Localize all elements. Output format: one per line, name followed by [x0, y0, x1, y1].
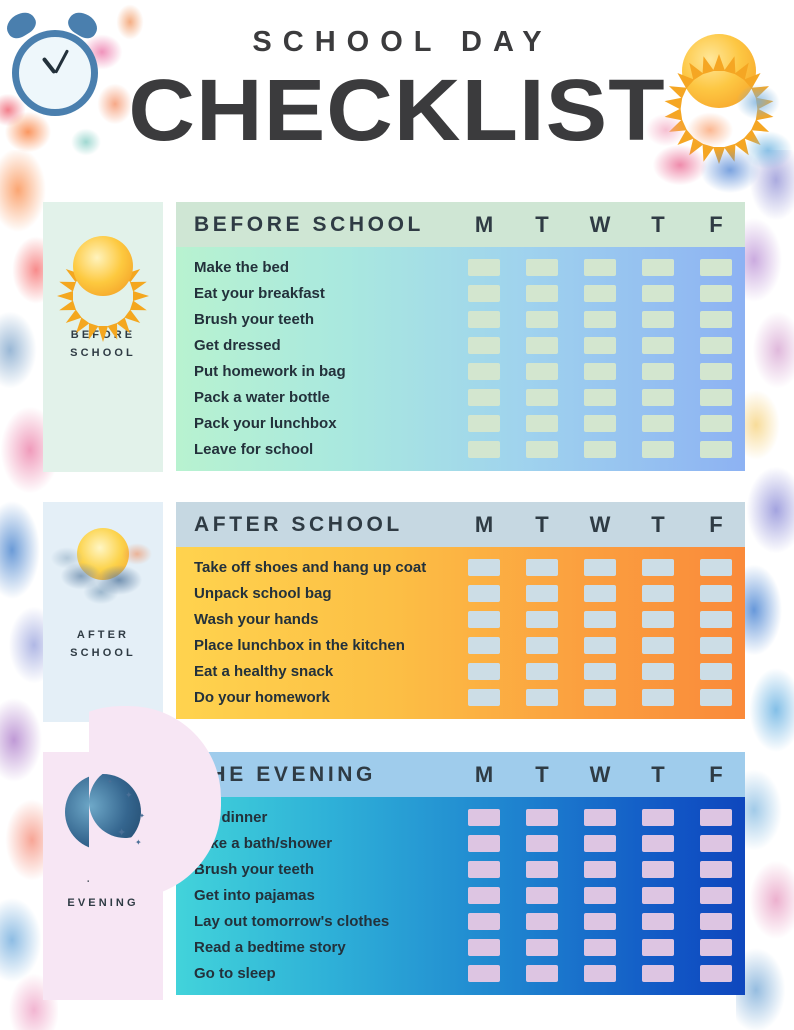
- checkbox-cell[interactable]: [455, 363, 513, 380]
- task-label: Place lunchbox in the kitchen: [194, 637, 455, 654]
- checkbox-cell[interactable]: [687, 611, 745, 628]
- sunset-cloud-icon: [51, 514, 155, 618]
- checkbox-the-evening-0-1[interactable]: [526, 809, 558, 826]
- checkbox-before-school-1-0[interactable]: [468, 285, 500, 302]
- task-label: Put homework in bag: [194, 363, 455, 380]
- checkbox-cell[interactable]: [629, 663, 687, 680]
- checkbox-cell[interactable]: [629, 585, 687, 602]
- crescent-moon-icon: ✦ ✦ ✦ ✦ ✦: [51, 764, 155, 868]
- task-label: Lay out tomorrow's clothes: [194, 913, 455, 930]
- day-header-t2: T: [629, 512, 687, 538]
- checkbox-cell[interactable]: [687, 965, 745, 982]
- side-card-the-evening: ✦ ✦ ✦ ✦ ✦ THE EVENING: [43, 752, 163, 1000]
- checkbox-the-evening-3-4[interactable]: [700, 887, 732, 904]
- checkbox-the-evening-5-0[interactable]: [468, 939, 500, 956]
- checkbox-before-school-0-0[interactable]: [468, 259, 500, 276]
- checkbox-cell[interactable]: [687, 337, 745, 354]
- checkbox-before-school-7-4[interactable]: [700, 441, 732, 458]
- checkbox-before-school-5-0[interactable]: [468, 389, 500, 406]
- checkbox-before-school-0-3[interactable]: [642, 259, 674, 276]
- checkbox-cell[interactable]: [455, 887, 513, 904]
- checkbox-cell[interactable]: [455, 441, 513, 458]
- day-header-m: M: [455, 762, 513, 788]
- checkbox-cell[interactable]: [455, 285, 513, 302]
- checkbox-cell[interactable]: [571, 611, 629, 628]
- checkbox-cell[interactable]: [571, 389, 629, 406]
- checkbox-after-school-5-4[interactable]: [700, 689, 732, 706]
- checkbox-cell[interactable]: [629, 611, 687, 628]
- checkbox-cell[interactable]: [513, 637, 571, 654]
- checkbox-before-school-4-0[interactable]: [468, 363, 500, 380]
- checkbox-before-school-0-1[interactable]: [526, 259, 558, 276]
- checkbox-cell[interactable]: [513, 363, 571, 380]
- checkbox-before-school-0-4[interactable]: [700, 259, 732, 276]
- checkbox-after-school-3-3[interactable]: [642, 637, 674, 654]
- checkbox-the-evening-2-2[interactable]: [584, 861, 616, 878]
- checkbox-after-school-1-0[interactable]: [468, 585, 500, 602]
- checkbox-cell[interactable]: [629, 689, 687, 706]
- task-label: Get dressed: [194, 337, 455, 354]
- checkbox-cell[interactable]: [455, 965, 513, 982]
- checkbox-cell[interactable]: [571, 285, 629, 302]
- checkbox-cell[interactable]: [629, 559, 687, 576]
- checkbox-cell[interactable]: [513, 835, 571, 852]
- checkbox-cell[interactable]: [571, 663, 629, 680]
- checkbox-cell[interactable]: [687, 559, 745, 576]
- checkbox-cell[interactable]: [513, 611, 571, 628]
- checkbox-cell[interactable]: [455, 585, 513, 602]
- checkbox-cell[interactable]: [571, 637, 629, 654]
- task-label: Pack a water bottle: [194, 389, 455, 406]
- checkbox-before-school-2-2[interactable]: [584, 311, 616, 328]
- checkbox-after-school-4-2[interactable]: [584, 663, 616, 680]
- checkbox-cell[interactable]: [513, 861, 571, 878]
- checkbox-cell[interactable]: [571, 559, 629, 576]
- task-row: Get into pajamas: [194, 882, 745, 908]
- checkbox-cell[interactable]: [571, 887, 629, 904]
- checkbox-the-evening-1-1[interactable]: [526, 835, 558, 852]
- checkbox-cell[interactable]: [571, 311, 629, 328]
- checkbox-before-school-5-1[interactable]: [526, 389, 558, 406]
- checkbox-cell[interactable]: [513, 559, 571, 576]
- checkbox-before-school-5-3[interactable]: [642, 389, 674, 406]
- checkbox-before-school-1-3[interactable]: [642, 285, 674, 302]
- checkbox-cell[interactable]: [513, 913, 571, 930]
- checkbox-the-evening-3-3[interactable]: [642, 887, 674, 904]
- task-row: Brush your teeth: [194, 856, 745, 882]
- checkbox-before-school-1-4[interactable]: [700, 285, 732, 302]
- checkbox-cell[interactable]: [571, 809, 629, 826]
- checkbox-cell[interactable]: [629, 415, 687, 432]
- checkbox-before-school-4-4[interactable]: [700, 363, 732, 380]
- checkbox-cell[interactable]: [571, 337, 629, 354]
- checkbox-after-school-0-2[interactable]: [584, 559, 616, 576]
- checkbox-cell[interactable]: [455, 415, 513, 432]
- star-icon: ✦: [107, 778, 113, 786]
- checkbox-cell[interactable]: [513, 311, 571, 328]
- checkbox-cell[interactable]: [571, 965, 629, 982]
- checkbox-before-school-3-4[interactable]: [700, 337, 732, 354]
- checkbox-the-evening-3-1[interactable]: [526, 887, 558, 904]
- checkbox-cell[interactable]: [513, 585, 571, 602]
- checkbox-cell[interactable]: [571, 861, 629, 878]
- checkbox-cell[interactable]: [687, 389, 745, 406]
- task-label: Leave for school: [194, 441, 455, 458]
- day-header-t2: T: [629, 212, 687, 238]
- table-header-after-school: AFTER SCHOOL M T W T F: [176, 502, 745, 547]
- checkbox-cell[interactable]: [629, 259, 687, 276]
- checkbox-the-evening-5-4[interactable]: [700, 939, 732, 956]
- checkbox-cell[interactable]: [629, 363, 687, 380]
- page-kicker: SCHOOL DAY: [11, 26, 794, 59]
- checkbox-cell[interactable]: [687, 285, 745, 302]
- checkbox-cell[interactable]: [513, 689, 571, 706]
- checkbox-after-school-1-2[interactable]: [584, 585, 616, 602]
- checkbox-cell[interactable]: [629, 913, 687, 930]
- checkbox-cell[interactable]: [687, 913, 745, 930]
- task-row: Brush your teeth: [194, 306, 745, 332]
- task-label: Brush your teeth: [194, 861, 455, 878]
- checkbox-after-school-0-1[interactable]: [526, 559, 558, 576]
- table-header-the-evening: THE EVENING M T W T F: [176, 752, 745, 797]
- checkbox-before-school-7-1[interactable]: [526, 441, 558, 458]
- day-header-w: W: [571, 512, 629, 538]
- checkbox-cell[interactable]: [629, 441, 687, 458]
- checkbox-the-evening-3-0[interactable]: [468, 887, 500, 904]
- day-header-f: F: [687, 512, 745, 538]
- checkbox-after-school-3-1[interactable]: [526, 637, 558, 654]
- section-title: THE EVENING: [194, 763, 455, 787]
- checkbox-before-school-2-3[interactable]: [642, 311, 674, 328]
- checkbox-cell[interactable]: [455, 689, 513, 706]
- checkbox-before-school-6-4[interactable]: [700, 415, 732, 432]
- day-header-f: F: [687, 762, 745, 788]
- checkbox-after-school-1-3[interactable]: [642, 585, 674, 602]
- side-card-after-school: AFTER SCHOOL: [43, 502, 163, 722]
- task-label: Brush your teeth: [194, 311, 455, 328]
- checkbox-before-school-5-4[interactable]: [700, 389, 732, 406]
- checkbox-before-school-7-0[interactable]: [468, 441, 500, 458]
- checkbox-after-school-3-4[interactable]: [700, 637, 732, 654]
- checkbox-cell[interactable]: [687, 637, 745, 654]
- task-row: Place lunchbox in the kitchen: [194, 632, 745, 658]
- checkbox-before-school-7-2[interactable]: [584, 441, 616, 458]
- checkbox-cell[interactable]: [513, 939, 571, 956]
- checkbox-the-evening-5-3[interactable]: [642, 939, 674, 956]
- day-header-t1: T: [513, 512, 571, 538]
- checkbox-the-evening-2-3[interactable]: [642, 861, 674, 878]
- checkbox-after-school-3-0[interactable]: [468, 637, 500, 654]
- task-label: Wash your hands: [194, 611, 455, 628]
- checkbox-after-school-1-1[interactable]: [526, 585, 558, 602]
- task-row: Take a bath/shower: [194, 830, 745, 856]
- day-header-f: F: [687, 212, 745, 238]
- task-row: Eat your breakfast: [194, 280, 745, 306]
- checkbox-the-evening-1-4[interactable]: [700, 835, 732, 852]
- checkbox-cell[interactable]: [513, 965, 571, 982]
- checkbox-before-school-4-1[interactable]: [526, 363, 558, 380]
- checkbox-before-school-3-0[interactable]: [468, 337, 500, 354]
- task-label: Make the bed: [194, 259, 455, 276]
- checkbox-the-evening-2-1[interactable]: [526, 861, 558, 878]
- checkbox-cell[interactable]: [687, 311, 745, 328]
- checkbox-cell[interactable]: [687, 809, 745, 826]
- checkbox-the-evening-0-4[interactable]: [700, 809, 732, 826]
- task-row: Eat dinner: [194, 804, 745, 830]
- checkbox-cell[interactable]: [455, 259, 513, 276]
- day-header-t2: T: [629, 762, 687, 788]
- checkbox-cell[interactable]: [513, 887, 571, 904]
- checkbox-the-evening-2-4[interactable]: [700, 861, 732, 878]
- checkbox-the-evening-5-1[interactable]: [526, 939, 558, 956]
- day-header-t1: T: [513, 212, 571, 238]
- checkbox-the-evening-0-3[interactable]: [642, 809, 674, 826]
- section-the-evening: ✦ ✦ ✦ ✦ ✦ THE EVENING THE EVENING M T W …: [0, 752, 794, 1000]
- checkbox-the-evening-6-4[interactable]: [700, 965, 732, 982]
- checkbox-cell[interactable]: [629, 835, 687, 852]
- checkbox-the-evening-3-2[interactable]: [584, 887, 616, 904]
- checkbox-the-evening-1-3[interactable]: [642, 835, 674, 852]
- checkbox-before-school-6-1[interactable]: [526, 415, 558, 432]
- checkbox-cell[interactable]: [629, 809, 687, 826]
- task-label: Eat a healthy snack: [194, 663, 455, 680]
- checkbox-cell[interactable]: [629, 285, 687, 302]
- side-label-the-evening: THE EVENING: [67, 876, 138, 912]
- task-label: Get into pajamas: [194, 887, 455, 904]
- section-title: BEFORE SCHOOL: [194, 213, 455, 237]
- checkbox-before-school-0-2[interactable]: [584, 259, 616, 276]
- checkbox-before-school-3-1[interactable]: [526, 337, 558, 354]
- section-before-school: BEFORE SCHOOL BEFORE SCHOOL M T W T F Ma…: [0, 202, 794, 472]
- task-row: Take off shoes and hang up coat: [194, 554, 745, 580]
- checkbox-cell[interactable]: [513, 663, 571, 680]
- checkbox-cell[interactable]: [687, 861, 745, 878]
- section-title: AFTER SCHOOL: [194, 513, 455, 537]
- checkbox-the-evening-6-1[interactable]: [526, 965, 558, 982]
- side-card-before-school: BEFORE SCHOOL: [43, 202, 163, 472]
- checkbox-cell[interactable]: [571, 835, 629, 852]
- checkbox-before-school-6-2[interactable]: [584, 415, 616, 432]
- task-rows-the-evening: Eat dinnerTake a bath/showerBrush your t…: [176, 797, 745, 995]
- checkbox-after-school-2-1[interactable]: [526, 611, 558, 628]
- checkbox-before-school-3-3[interactable]: [642, 337, 674, 354]
- checkbox-cell[interactable]: [455, 311, 513, 328]
- checkbox-cell[interactable]: [513, 389, 571, 406]
- checkbox-before-school-2-4[interactable]: [700, 311, 732, 328]
- checkbox-cell[interactable]: [629, 311, 687, 328]
- checkbox-cell[interactable]: [455, 835, 513, 852]
- task-row: Put homework in bag: [194, 358, 745, 384]
- star-icon: ✦: [139, 812, 145, 820]
- checkbox-cell[interactable]: [455, 663, 513, 680]
- day-header-w: W: [571, 762, 629, 788]
- checkbox-after-school-0-0[interactable]: [468, 559, 500, 576]
- checkbox-before-school-7-3[interactable]: [642, 441, 674, 458]
- checkbox-cell[interactable]: [571, 415, 629, 432]
- checkbox-before-school-4-2[interactable]: [584, 363, 616, 380]
- side-label-line1: AFTER: [77, 629, 129, 641]
- sun-icon: [51, 214, 155, 318]
- star-icon: ✦: [135, 838, 142, 847]
- task-row: Make the bed: [194, 254, 745, 280]
- checkbox-cell[interactable]: [687, 441, 745, 458]
- task-rows-before-school: Make the bedEat your breakfastBrush your…: [176, 247, 745, 471]
- checkbox-after-school-2-4[interactable]: [700, 611, 732, 628]
- checkbox-cell[interactable]: [629, 637, 687, 654]
- checkbox-cell[interactable]: [513, 415, 571, 432]
- checkbox-after-school-5-2[interactable]: [584, 689, 616, 706]
- checkbox-cell[interactable]: [629, 337, 687, 354]
- sun-ray: [98, 326, 108, 342]
- checkbox-cell[interactable]: [455, 337, 513, 354]
- checkbox-the-evening-4-2[interactable]: [584, 913, 616, 930]
- checkbox-cell[interactable]: [455, 611, 513, 628]
- checkbox-the-evening-1-2[interactable]: [584, 835, 616, 852]
- checkbox-after-school-0-3[interactable]: [642, 559, 674, 576]
- sun-disc: [73, 236, 133, 296]
- task-rows-after-school: Take off shoes and hang up coatUnpack sc…: [176, 547, 745, 719]
- checkbox-cell[interactable]: [513, 285, 571, 302]
- checkbox-after-school-3-2[interactable]: [584, 637, 616, 654]
- sun-ray: [133, 291, 149, 301]
- task-row: Wash your hands: [194, 606, 745, 632]
- checkbox-cell[interactable]: [687, 835, 745, 852]
- checkbox-cell[interactable]: [513, 259, 571, 276]
- task-row: Eat a healthy snack: [194, 658, 745, 684]
- day-header-w: W: [571, 212, 629, 238]
- task-label: Eat your breakfast: [194, 285, 455, 302]
- sun-ray: [57, 291, 73, 301]
- checkbox-before-school-4-3[interactable]: [642, 363, 674, 380]
- checkbox-before-school-6-3[interactable]: [642, 415, 674, 432]
- checkbox-before-school-6-0[interactable]: [468, 415, 500, 432]
- checkbox-cell[interactable]: [687, 689, 745, 706]
- checkbox-cell[interactable]: [687, 887, 745, 904]
- task-row: Pack a water bottle: [194, 384, 745, 410]
- checkbox-cell[interactable]: [629, 389, 687, 406]
- checkbox-cell[interactable]: [687, 259, 745, 276]
- table-before-school: BEFORE SCHOOL M T W T F Make the bedEat …: [176, 202, 745, 471]
- checkbox-before-school-5-2[interactable]: [584, 389, 616, 406]
- checkbox-cell[interactable]: [687, 939, 745, 956]
- task-label: Take off shoes and hang up coat: [194, 559, 455, 576]
- task-label: Take a bath/shower: [194, 835, 455, 852]
- checkbox-cell[interactable]: [455, 939, 513, 956]
- day-header-m: M: [455, 212, 513, 238]
- task-label: Go to sleep: [194, 965, 455, 982]
- checkbox-the-evening-6-3[interactable]: [642, 965, 674, 982]
- checkbox-before-school-3-2[interactable]: [584, 337, 616, 354]
- checkbox-cell[interactable]: [571, 689, 629, 706]
- checkbox-cell[interactable]: [687, 415, 745, 432]
- checkbox-the-evening-0-2[interactable]: [584, 809, 616, 826]
- table-header-before-school: BEFORE SCHOOL M T W T F: [176, 202, 745, 247]
- checkbox-cell[interactable]: [629, 939, 687, 956]
- checklist-board: BEFORE SCHOOL BEFORE SCHOOL M T W T F Ma…: [0, 202, 794, 1030]
- checkbox-after-school-5-1[interactable]: [526, 689, 558, 706]
- checkbox-cell[interactable]: [571, 363, 629, 380]
- checkbox-cell[interactable]: [455, 559, 513, 576]
- checkbox-cell[interactable]: [571, 441, 629, 458]
- checkbox-the-evening-1-0[interactable]: [468, 835, 500, 852]
- checkbox-after-school-2-2[interactable]: [584, 611, 616, 628]
- checkbox-cell[interactable]: [571, 585, 629, 602]
- checkbox-the-evening-6-0[interactable]: [468, 965, 500, 982]
- checkbox-after-school-5-3[interactable]: [642, 689, 674, 706]
- table-the-evening: THE EVENING M T W T F Eat dinnerTake a b…: [176, 752, 745, 995]
- checkbox-the-evening-4-3[interactable]: [642, 913, 674, 930]
- side-label-line2: EVENING: [67, 897, 138, 909]
- task-row: Lay out tomorrow's clothes: [194, 908, 745, 934]
- checkbox-after-school-4-1[interactable]: [526, 663, 558, 680]
- checkbox-after-school-2-3[interactable]: [642, 611, 674, 628]
- task-label: Read a bedtime story: [194, 939, 455, 956]
- checkbox-cell[interactable]: [455, 913, 513, 930]
- task-label: Eat dinner: [194, 809, 455, 826]
- checkbox-cell[interactable]: [571, 259, 629, 276]
- checkbox-cell[interactable]: [513, 809, 571, 826]
- star-icon: ✦: [125, 790, 133, 801]
- checkbox-cell[interactable]: [687, 585, 745, 602]
- task-label: Do your homework: [194, 689, 455, 706]
- checkbox-cell[interactable]: [687, 363, 745, 380]
- checkbox-after-school-4-3[interactable]: [642, 663, 674, 680]
- task-row: Go to sleep: [194, 960, 745, 986]
- table-after-school: AFTER SCHOOL M T W T F Take off shoes an…: [176, 502, 745, 719]
- checkbox-after-school-0-4[interactable]: [700, 559, 732, 576]
- checkbox-the-evening-4-4[interactable]: [700, 913, 732, 930]
- task-row: Do your homework: [194, 684, 745, 710]
- task-row: Pack your lunchbox: [194, 410, 745, 436]
- section-after-school: AFTER SCHOOL AFTER SCHOOL M T W T F Take…: [0, 502, 794, 722]
- task-row: Get dressed: [194, 332, 745, 358]
- side-label-line2: SCHOOL: [70, 347, 136, 359]
- checkbox-after-school-2-0[interactable]: [468, 611, 500, 628]
- side-label-line2: SCHOOL: [70, 647, 136, 659]
- checkbox-cell[interactable]: [629, 861, 687, 878]
- checkbox-the-evening-6-2[interactable]: [584, 965, 616, 982]
- checkbox-cell[interactable]: [513, 337, 571, 354]
- checkbox-before-school-1-2[interactable]: [584, 285, 616, 302]
- checkbox-after-school-5-0[interactable]: [468, 689, 500, 706]
- checkbox-before-school-1-1[interactable]: [526, 285, 558, 302]
- checkbox-cell[interactable]: [629, 965, 687, 982]
- checkbox-after-school-4-0[interactable]: [468, 663, 500, 680]
- checkbox-the-evening-5-2[interactable]: [584, 939, 616, 956]
- checkbox-cell[interactable]: [629, 887, 687, 904]
- star-icon: ✦: [117, 826, 126, 839]
- checkbox-after-school-4-4[interactable]: [700, 663, 732, 680]
- checkbox-cell[interactable]: [455, 809, 513, 826]
- checkbox-after-school-1-4[interactable]: [700, 585, 732, 602]
- checkbox-cell[interactable]: [455, 389, 513, 406]
- task-row: Unpack school bag: [194, 580, 745, 606]
- checkbox-the-evening-4-0[interactable]: [468, 913, 500, 930]
- checkbox-the-evening-4-1[interactable]: [526, 913, 558, 930]
- task-label: Pack your lunchbox: [194, 415, 455, 432]
- checkbox-before-school-2-0[interactable]: [468, 311, 500, 328]
- checkbox-the-evening-2-0[interactable]: [468, 861, 500, 878]
- checkbox-cell[interactable]: [571, 913, 629, 930]
- checkbox-the-evening-0-0[interactable]: [468, 809, 500, 826]
- checkbox-cell[interactable]: [571, 939, 629, 956]
- checkbox-cell[interactable]: [455, 861, 513, 878]
- checkbox-cell[interactable]: [455, 637, 513, 654]
- day-header-t1: T: [513, 762, 571, 788]
- checkbox-before-school-2-1[interactable]: [526, 311, 558, 328]
- checkbox-cell[interactable]: [687, 663, 745, 680]
- checkbox-cell[interactable]: [513, 441, 571, 458]
